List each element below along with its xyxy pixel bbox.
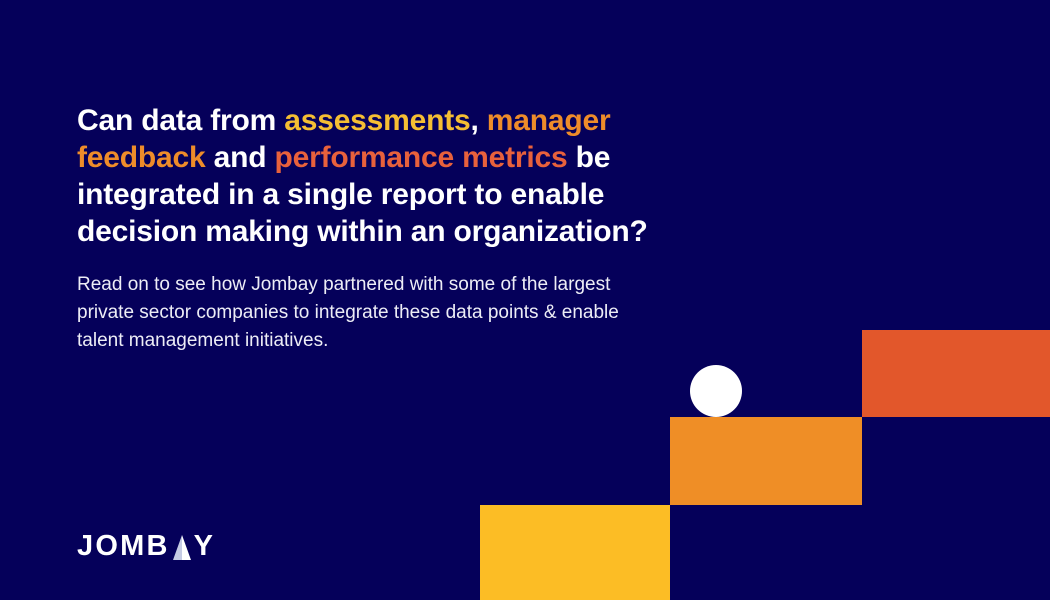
logo-text-part-one: JOMB xyxy=(77,532,170,561)
headline-segment-0: Can data from xyxy=(77,104,284,137)
yellow-step-block xyxy=(480,505,670,600)
logo-text-part-two: Y xyxy=(194,532,216,561)
orange-step-block xyxy=(670,417,862,505)
triangle-a-icon xyxy=(171,535,193,560)
text-content-block: Can data from assessments, manager feedb… xyxy=(77,102,687,355)
slide-canvas: Can data from assessments, manager feedb… xyxy=(0,0,1050,600)
headline-segment-performance-metrics: performance metrics xyxy=(274,141,567,174)
red-step-block xyxy=(862,330,1050,417)
jombay-logo: JOMB Y xyxy=(77,532,215,561)
subcopy-paragraph: Read on to see how Jombay partnered with… xyxy=(77,271,645,355)
headline-segment-4: and xyxy=(205,141,274,174)
white-circle xyxy=(690,365,742,417)
headline-segment-assessments: assessments xyxy=(284,104,470,137)
page-title: Can data from assessments, manager feedb… xyxy=(77,102,687,250)
headline-segment-2: , xyxy=(471,104,487,137)
